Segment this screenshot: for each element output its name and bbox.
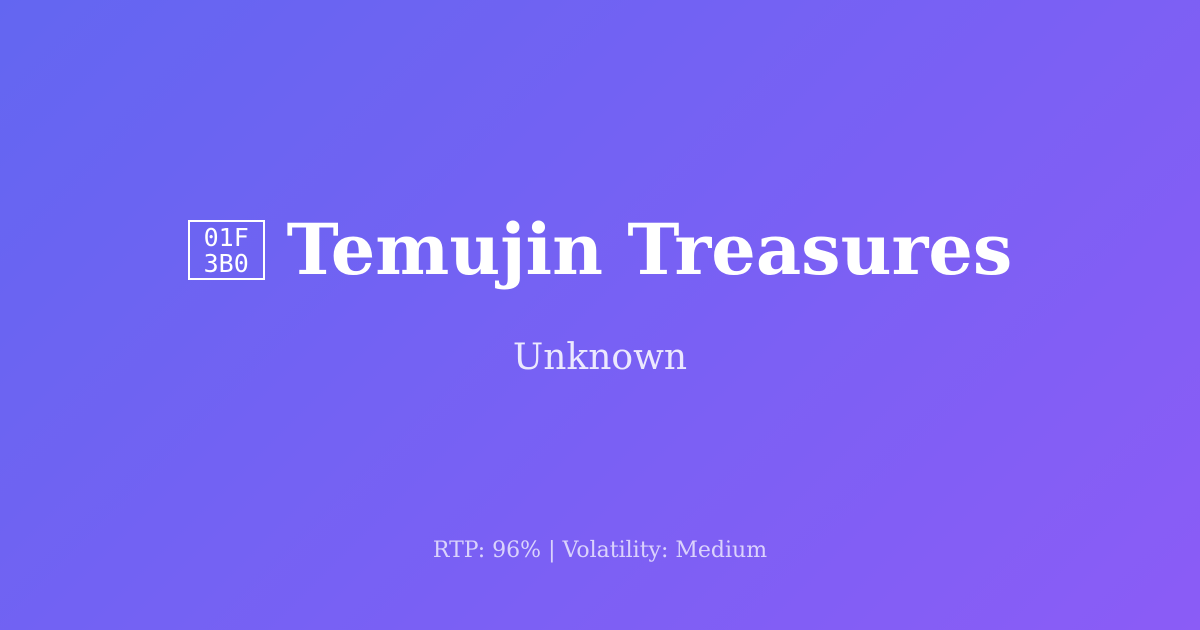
tofu-hex-line-1: 01F: [204, 225, 249, 251]
game-subtitle: Unknown: [513, 336, 687, 379]
game-title: Temujin Treasures: [287, 213, 1013, 287]
card-content-stack: 01F 3B0 Temujin Treasures Unknown: [0, 213, 1200, 378]
title-row: 01F 3B0 Temujin Treasures: [0, 213, 1200, 287]
game-meta-line: RTP: 96% | Volatility: Medium: [433, 538, 767, 564]
slot-machine-tofu-icon: 01F 3B0: [188, 220, 265, 280]
og-share-card: 01F 3B0 Temujin Treasures Unknown RTP: 9…: [0, 0, 1200, 630]
tofu-hex-line-2: 3B0: [204, 251, 249, 277]
card-footer: RTP: 96% | Volatility: Medium: [0, 538, 1200, 564]
